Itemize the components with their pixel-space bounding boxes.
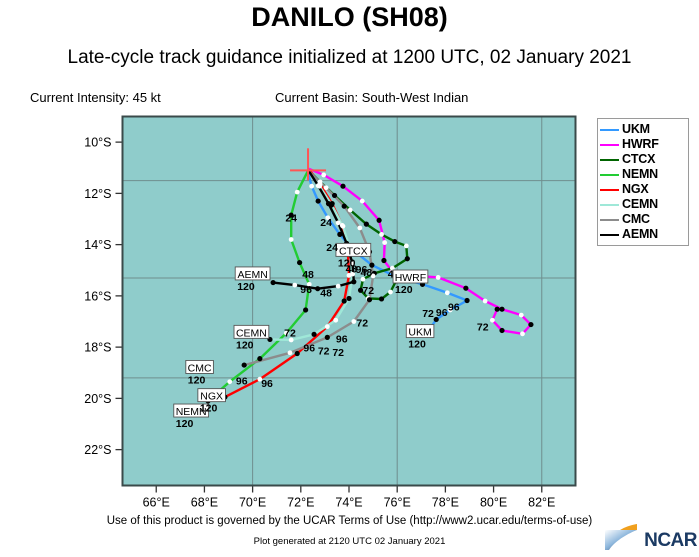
terms-of-use-text: Use of this product is governed by the U… xyxy=(0,515,699,527)
track-hour-label: 24 xyxy=(285,213,297,225)
label-hour-120: 120 xyxy=(200,403,218,415)
track-marker xyxy=(528,322,533,327)
track-hour-label: 72 xyxy=(284,327,296,339)
track-marker xyxy=(495,307,500,312)
label-text: CMC xyxy=(188,362,212,374)
legend-item-nemn[interactable]: NEMN xyxy=(600,167,685,182)
track-marker xyxy=(519,313,524,318)
yaxis-tick-label: 10°S xyxy=(84,136,111,150)
track-marker xyxy=(303,307,308,312)
label-text: NGX xyxy=(200,391,223,403)
track-hour-label: 96 xyxy=(356,264,368,276)
ncar-logo-text: NCAR xyxy=(644,530,697,552)
label-text: UKM xyxy=(408,327,431,339)
label-hour-120: 120 xyxy=(176,418,194,430)
legend-item-ctcx[interactable]: CTCX xyxy=(600,152,685,167)
track-hour-label: 24 xyxy=(320,217,332,229)
track-marker xyxy=(288,350,293,355)
legend-item-hwrf[interactable]: HWRF xyxy=(600,137,685,152)
track-marker xyxy=(332,193,337,198)
legend-swatch-hwrf xyxy=(600,144,619,146)
track-marker xyxy=(499,328,504,333)
track-marker xyxy=(392,239,397,244)
track-marker xyxy=(405,256,410,261)
track-marker xyxy=(325,324,330,329)
plot-generated-text: Plot generated at 2120 UTC 02 January 20… xyxy=(0,536,699,547)
yaxis-tick-label: 16°S xyxy=(84,289,111,303)
track-marker xyxy=(309,184,314,189)
track-hour-label: 72 xyxy=(362,285,374,297)
track-marker xyxy=(340,184,345,189)
yaxis-tick-label: 22°S xyxy=(84,443,111,457)
track-marker xyxy=(520,331,525,336)
track-marker xyxy=(336,220,341,225)
track-marker xyxy=(295,190,300,195)
track-marker xyxy=(321,173,326,178)
track-marker xyxy=(357,226,362,231)
legend-label: AEMN xyxy=(622,227,658,242)
track-marker xyxy=(337,232,342,237)
track-marker xyxy=(311,332,316,337)
label-text: CEMN xyxy=(236,327,267,339)
track-marker xyxy=(463,286,468,291)
yaxis-tick-label: 18°S xyxy=(84,341,111,355)
legend-swatch-ngx xyxy=(600,189,619,191)
label-text: HWRF xyxy=(395,272,427,284)
track-marker xyxy=(346,296,351,301)
legend-label: UKM xyxy=(622,122,650,137)
track-hour-label: 96 xyxy=(261,378,273,390)
label-hour-120: 120 xyxy=(237,281,255,293)
legend-swatch-ukm xyxy=(600,129,619,131)
track-marker xyxy=(360,199,365,204)
track-marker xyxy=(325,335,330,340)
legend-item-ukm[interactable]: UKM xyxy=(600,122,685,137)
legend-item-ngx[interactable]: NGX xyxy=(600,182,685,197)
track-hour-label: 72 xyxy=(356,318,368,330)
legend-item-cemn[interactable]: CEMN xyxy=(600,197,685,212)
track-marker xyxy=(326,201,331,206)
track-hour-label: 96 xyxy=(336,334,348,346)
legend-label: CMC xyxy=(622,212,650,227)
legend-item-cmc[interactable]: CMC xyxy=(600,212,685,227)
xaxis-tick-label: 70°E xyxy=(239,496,266,510)
track-marker xyxy=(292,283,297,288)
track-guidance-page: DANILO (SH08) Late-cycle track guidance … xyxy=(0,0,699,557)
track-marker xyxy=(333,318,338,323)
track-marker xyxy=(316,183,321,188)
track-marker xyxy=(404,244,409,249)
track-marker xyxy=(379,232,384,237)
track-marker xyxy=(297,260,302,265)
track-hour-label: 72 xyxy=(422,308,434,320)
xaxis-tick-label: 78°E xyxy=(432,496,459,510)
track-marker xyxy=(377,218,382,223)
legend-label: HWRF xyxy=(622,137,659,152)
track-marker xyxy=(490,318,495,323)
track-marker xyxy=(336,284,341,289)
track-marker xyxy=(324,185,329,190)
track-marker xyxy=(388,290,393,295)
track-marker xyxy=(445,290,450,295)
legend-label: NEMN xyxy=(622,167,658,182)
track-hour-label: 48 xyxy=(346,263,358,275)
model-legend: UKMHWRFCTCXNEMNNGXCEMNCMCAEMN xyxy=(597,118,689,246)
track-hour-label: 48 xyxy=(320,287,332,299)
track-hour-label: 48 xyxy=(302,269,314,281)
track-marker xyxy=(295,351,300,356)
track-marker xyxy=(257,356,262,361)
xaxis-tick-label: 82°E xyxy=(528,496,555,510)
track-hour-label: 72 xyxy=(332,347,344,359)
track-hour-label: 96 xyxy=(436,307,448,319)
legend-label: CTCX xyxy=(622,152,655,167)
track-marker xyxy=(342,298,347,303)
label-hour-120: 120 xyxy=(395,284,413,296)
xaxis-tick-label: 68°E xyxy=(191,496,218,510)
track-marker xyxy=(351,279,356,284)
track-marker xyxy=(436,275,441,280)
track-marker xyxy=(364,222,369,227)
label-text: AEMN xyxy=(237,269,267,281)
track-marker xyxy=(227,379,232,384)
legend-label: NGX xyxy=(622,182,649,197)
label-hour-120: 120 xyxy=(188,374,206,386)
legend-swatch-cemn xyxy=(600,204,619,206)
track-marker xyxy=(316,198,321,203)
track-marker xyxy=(379,296,384,301)
track-marker xyxy=(464,298,469,303)
track-marker xyxy=(499,307,504,312)
legend-item-aemn[interactable]: AEMN xyxy=(600,227,685,242)
legend-swatch-aemn xyxy=(600,234,619,236)
track-marker xyxy=(382,240,387,245)
label-hour-120: 120 xyxy=(408,339,426,351)
track-hour-label: 96 xyxy=(236,375,248,387)
yaxis-tick-label: 20°S xyxy=(84,392,111,406)
xaxis-tick-label: 80°E xyxy=(480,496,507,510)
xaxis-tick-label: 76°E xyxy=(384,496,411,510)
track-marker xyxy=(342,204,347,209)
track-marker xyxy=(381,258,386,263)
legend-swatch-ctcx xyxy=(600,159,619,161)
track-marker xyxy=(348,208,353,213)
track-hour-label: 96 xyxy=(303,343,315,355)
yaxis-tick-label: 14°S xyxy=(84,238,111,252)
track-hour-label: 96 xyxy=(300,284,312,296)
xaxis-tick-label: 66°E xyxy=(143,496,170,510)
xaxis-tick-label: 72°E xyxy=(287,496,314,510)
track-hour-label: 96 xyxy=(448,302,460,314)
track-marker xyxy=(341,224,346,229)
track-marker xyxy=(483,299,488,304)
track-hour-label: 72 xyxy=(477,321,489,333)
track-marker xyxy=(367,297,372,302)
label-hour-120: 120 xyxy=(236,339,254,351)
track-marker xyxy=(242,362,247,367)
legend-swatch-nemn xyxy=(600,174,619,176)
label-text: CTCX xyxy=(339,245,368,257)
yaxis-tick-label: 12°S xyxy=(84,187,111,201)
legend-swatch-cmc xyxy=(600,219,619,221)
track-marker xyxy=(289,237,294,242)
track-map-plot: 66°E68°E70°E72°E74°E76°E78°E80°E82°E10°S… xyxy=(0,0,699,557)
track-hour-label: 24 xyxy=(326,242,338,254)
track-marker xyxy=(270,280,275,285)
track-hour-label: 72 xyxy=(318,345,330,357)
xaxis-tick-label: 74°E xyxy=(335,496,362,510)
legend-label: CEMN xyxy=(622,197,658,212)
